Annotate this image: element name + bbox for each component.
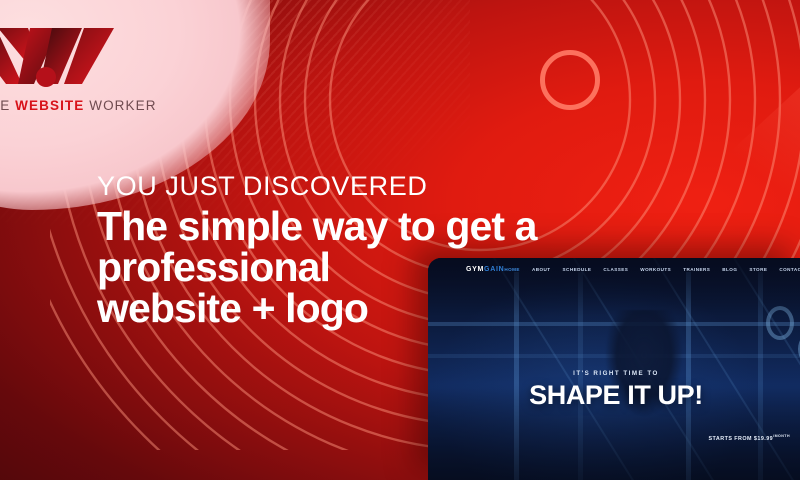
brand-logo[interactable]: THE WEBSITE WORKER — [0, 22, 158, 113]
hero-eyebrow: YOU JUST DISCOVERED — [97, 172, 617, 200]
corner-chevron-shape-icon — [680, 78, 800, 198]
mockup-nav-item-store[interactable]: STORE — [749, 267, 767, 272]
hero-headline-line-3: website + logo — [97, 288, 617, 329]
hero-headline: The simple way to get a professional web… — [97, 206, 617, 328]
mockup-nav-item-workouts[interactable]: WORKOUTS — [640, 267, 671, 272]
mockup-hero-kicker: IT'S RIGHT TIME TO — [428, 370, 800, 377]
mockup-price-note: STARTS FROM $19.99/MONTH — [709, 434, 791, 442]
mockup-nav-item-trainers[interactable]: TRAINERS — [683, 267, 710, 272]
brand-wordmark: THE WEBSITE WORKER — [0, 98, 158, 113]
hero-headline-line-1: The simple way to get a — [97, 206, 617, 247]
mockup-nav-item-contacts[interactable]: CONTACTS — [779, 267, 800, 272]
w-monogram-logo-icon — [0, 22, 126, 94]
mockup-hero-title: SHAPE IT UP! — [428, 382, 800, 409]
promo-banner: THE WEBSITE WORKER YOU JUST DISCOVERED T… — [0, 0, 800, 480]
mockup-hero-block: IT'S RIGHT TIME TO SHAPE IT UP! — [428, 370, 800, 409]
mockup-price-prefix: STARTS FROM $19.99 — [709, 436, 774, 442]
hero-copy: YOU JUST DISCOVERED The simple way to ge… — [97, 172, 617, 328]
mockup-price-suffix: /MONTH — [773, 434, 790, 438]
hero-headline-line-2: professional — [97, 247, 617, 288]
brand-word-worker: WORKER — [89, 98, 156, 113]
brand-word-website: WEBSITE — [15, 98, 84, 113]
circle-outline-decoration-icon — [540, 50, 600, 110]
brand-word-the: THE — [0, 98, 10, 113]
mockup-nav-item-blog[interactable]: BLOG — [722, 267, 737, 272]
